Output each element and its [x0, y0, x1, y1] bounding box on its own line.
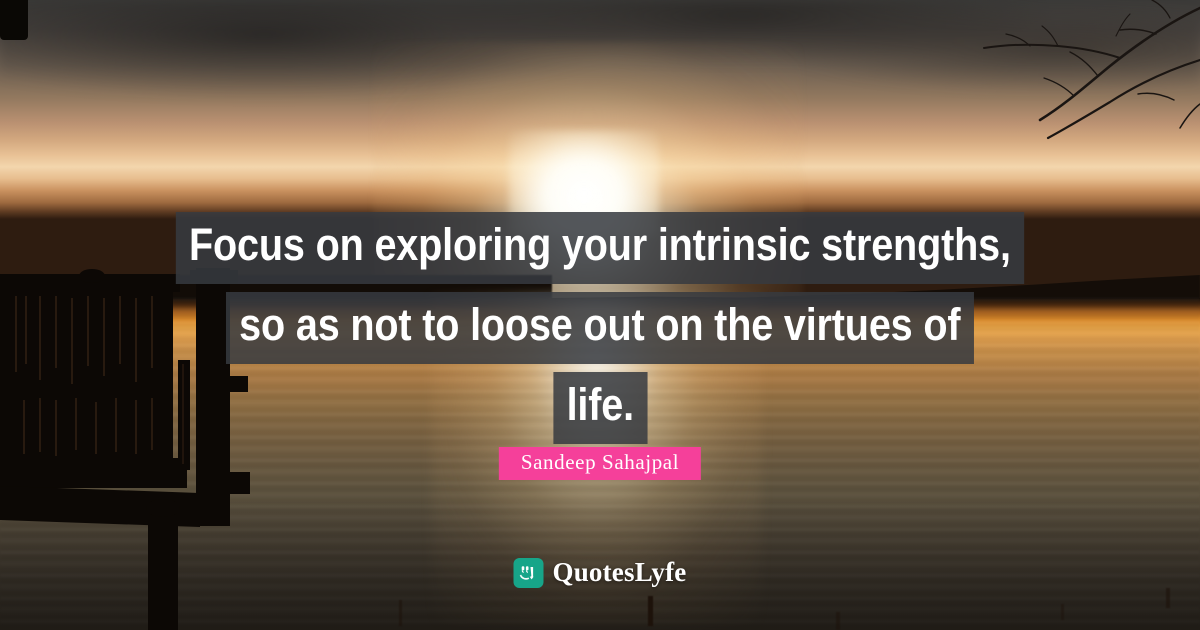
quote-text-block: Focus on exploring your intrinsic streng…: [0, 212, 1200, 444]
quote-line: Focus on exploring your intrinsic streng…: [176, 212, 1024, 284]
brand-name: QuotesLyfe: [553, 557, 687, 588]
author-badge: Sandeep Sahajpal: [499, 447, 701, 480]
quote-mark-icon: [514, 558, 544, 588]
quote-line: life.: [553, 372, 647, 444]
quote-overlay: Focus on exploring your intrinsic streng…: [0, 0, 1200, 630]
quoteslyfe-logo[interactable]: QuotesLyfe: [514, 557, 687, 588]
quote-line: so as not to loose out on the virtues of: [226, 292, 974, 364]
quote-card: Focus on exploring your intrinsic streng…: [0, 0, 1200, 630]
